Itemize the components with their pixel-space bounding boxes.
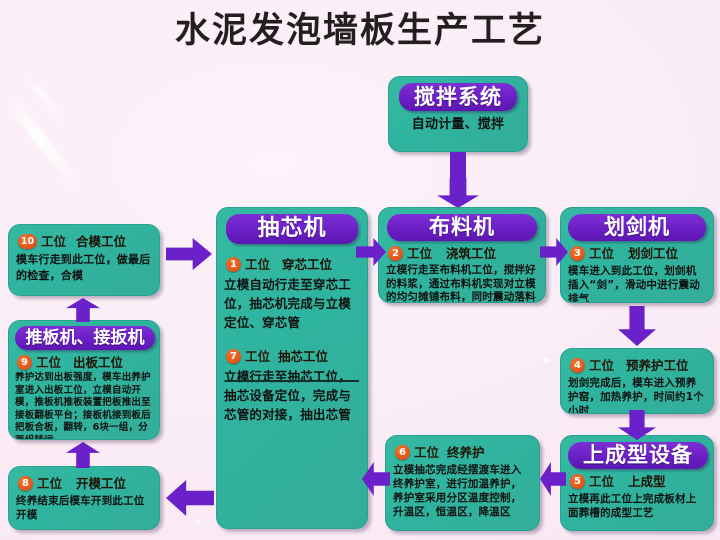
step-7-station: 工位	[245, 348, 270, 365]
step-5-station: 工位	[589, 473, 614, 490]
step-5-name: 上成型	[628, 473, 666, 490]
step-7-heading: 7 工位 抽芯工位	[226, 348, 360, 365]
step-8-station: 工位	[37, 475, 62, 492]
background-sparkle	[196, 520, 200, 524]
step-7-badge: 7	[226, 349, 241, 364]
node-pre-curing[interactable]: 4 工位 预养护工位 划剑完成后，模车进入预养护窑，加热养护，时间约1个小时	[560, 348, 714, 414]
step-2-name: 浇筑工位	[446, 245, 496, 262]
step-1-station: 工位	[245, 256, 270, 273]
node-mold-closing[interactable]: 10 工位 合模工位 模车行走到此工位，做最后的检查，合模	[8, 224, 160, 296]
step-6-badge: 6	[395, 445, 410, 460]
arrow-sword-machine-to-pre-curing	[618, 306, 656, 346]
step-2-body: 立模行走至布料机工位，搅拌好的料浆，通过布料机实现对立模的均匀摊铺布料，同时震动…	[386, 264, 538, 303]
step-10-heading: 10 工位 合模工位	[18, 233, 152, 250]
step-4-heading: 4 工位 预养护工位	[570, 357, 706, 374]
node-final-curing[interactable]: 6 工位 终养护 立模抽芯完成经摆渡车进入终养护室，进行加温养护，养护室采用分区…	[385, 435, 540, 531]
background-sparkle	[544, 358, 549, 363]
step-4-station: 工位	[589, 357, 614, 374]
background-streak	[0, 90, 83, 192]
step-2-station: 工位	[407, 245, 432, 262]
step-6-body: 立模抽芯完成经摆渡车进入终养护室，进行加温养护，养护室采用分区温度控制，升温区，…	[393, 463, 532, 519]
step-1-badge: 1	[226, 257, 241, 272]
step-4-badge: 4	[570, 358, 585, 373]
step-8-name: 开模工位	[76, 475, 126, 492]
page-title: 水泥发泡墙板生产工艺	[0, 8, 720, 54]
step-9-name: 出板工位	[73, 354, 123, 371]
step-7-name: 抽芯工位	[278, 348, 328, 365]
node-mixing-system-header: 搅拌系统	[399, 83, 517, 111]
step-6-heading: 6 工位 终养护	[395, 444, 532, 461]
step-6-station: 工位	[414, 444, 439, 461]
node-plate-machine-header: 推板机、接扳机	[15, 326, 155, 350]
step-8-heading: 8 工位 开模工位	[18, 475, 152, 492]
step-3-station: 工位	[589, 245, 614, 262]
background-streak	[21, 69, 70, 128]
node-sword-machine[interactable]: 划剑机 3 工位 划剑工位 模车进入到此工位，划剑机插入“剑”，滑动中进行震动排…	[560, 207, 714, 303]
node-forming-equipment-header: 上成型设备	[568, 442, 708, 469]
step-1-heading: 1 工位 穿芯工位	[226, 256, 360, 273]
step-4-body: 划剑完成后，模车进入预养护窑，加热养护，时间约1个小时	[568, 376, 706, 414]
node-mixing-system[interactable]: 搅拌系统 自动计量、搅拌	[388, 76, 528, 152]
arrow-demolding-to-plate-machine	[66, 442, 100, 468]
node-forming-equipment[interactable]: 上成型设备 5 工位 上成型 立模再此工位上完成板材上面葬槽的成型工艺	[560, 435, 714, 531]
slide-canvas: 水泥发泡墙板生产工艺 搅拌系统 自动计量、搅拌 抽芯机 1 工位 穿芯工位 立模…	[0, 0, 720, 540]
arrow-plate-machine-to-mold-closing	[66, 298, 100, 322]
step-8-body: 终养结束后模车开到此工位开模	[16, 494, 152, 522]
step-10-body: 模车行走到此工位，做最后的检查，合模	[16, 252, 152, 284]
node-distributor-header: 布料机	[387, 214, 537, 241]
step-5-badge: 5	[570, 474, 585, 489]
step-10-name: 合模工位	[76, 233, 126, 250]
arrow-core-pulling-to-demolding	[166, 480, 214, 516]
node-core-pulling-machine-header: 抽芯机	[226, 214, 358, 244]
step-3-body: 模车进入到此工位，划剑机插入“剑”，滑动中进行震动排气	[568, 264, 706, 303]
step-3-name: 划剑工位	[628, 245, 678, 262]
arrow-mold-closing-to-core-pulling	[166, 238, 212, 270]
arrow-mixing-to-distributor	[437, 178, 479, 208]
step-9-station: 工位	[36, 354, 61, 371]
step-9-heading: 9 工位 出板工位	[17, 354, 153, 371]
step-1-body: 立模自动行走至穿芯工位，抽芯机完成与立模定位、穿芯管	[224, 275, 360, 332]
node-mixing-system-body: 自动计量、搅拌	[396, 117, 520, 133]
node-sword-machine-header: 划剑机	[568, 214, 706, 241]
step-9-badge: 9	[17, 355, 32, 370]
step-4-name: 预养护工位	[626, 357, 689, 374]
node-demolding[interactable]: 8 工位 开模工位 终养结束后模车开到此工位开模	[8, 466, 160, 530]
step-2-heading: 2 工位 浇筑工位	[388, 245, 538, 262]
step-5-body: 立模再此工位上完成板材上面葬槽的成型工艺	[568, 492, 706, 520]
card-divider	[225, 380, 359, 382]
step-2-badge: 2	[388, 246, 403, 261]
step-10-station: 工位	[41, 233, 66, 250]
node-core-pulling-machine[interactable]: 抽芯机 1 工位 穿芯工位 立模自动行走至穿芯工位，抽芯机完成与立模定位、穿芯管…	[216, 207, 368, 529]
node-plate-machine[interactable]: 推板机、接扳机 9 工位 出板工位 养护达到出板强度，模车出养护室进入出板工位，…	[8, 320, 160, 440]
step-9-body: 养护达到出板强度，模车出养护室进入出板工位，立模自动开模，推板机推板装置把板推出…	[15, 372, 153, 440]
step-5-heading: 5 工位 上成型	[570, 473, 706, 490]
node-distributor[interactable]: 布料机 2 工位 浇筑工位 立模行走至布料机工位，搅拌好的料浆，通过布料机实现对…	[378, 207, 546, 303]
step-3-badge: 3	[570, 246, 585, 261]
step-1-name: 穿芯工位	[282, 256, 332, 273]
step-6-name: 终养护	[447, 444, 485, 461]
step-10-badge: 10	[18, 234, 37, 249]
step-8-badge: 8	[18, 476, 33, 491]
step-3-heading: 3 工位 划剑工位	[570, 245, 706, 262]
step-7-body: 立模行走至抽芯工位，抽芯设备定位，完成与芯管的对接，抽出芯管	[224, 367, 360, 424]
